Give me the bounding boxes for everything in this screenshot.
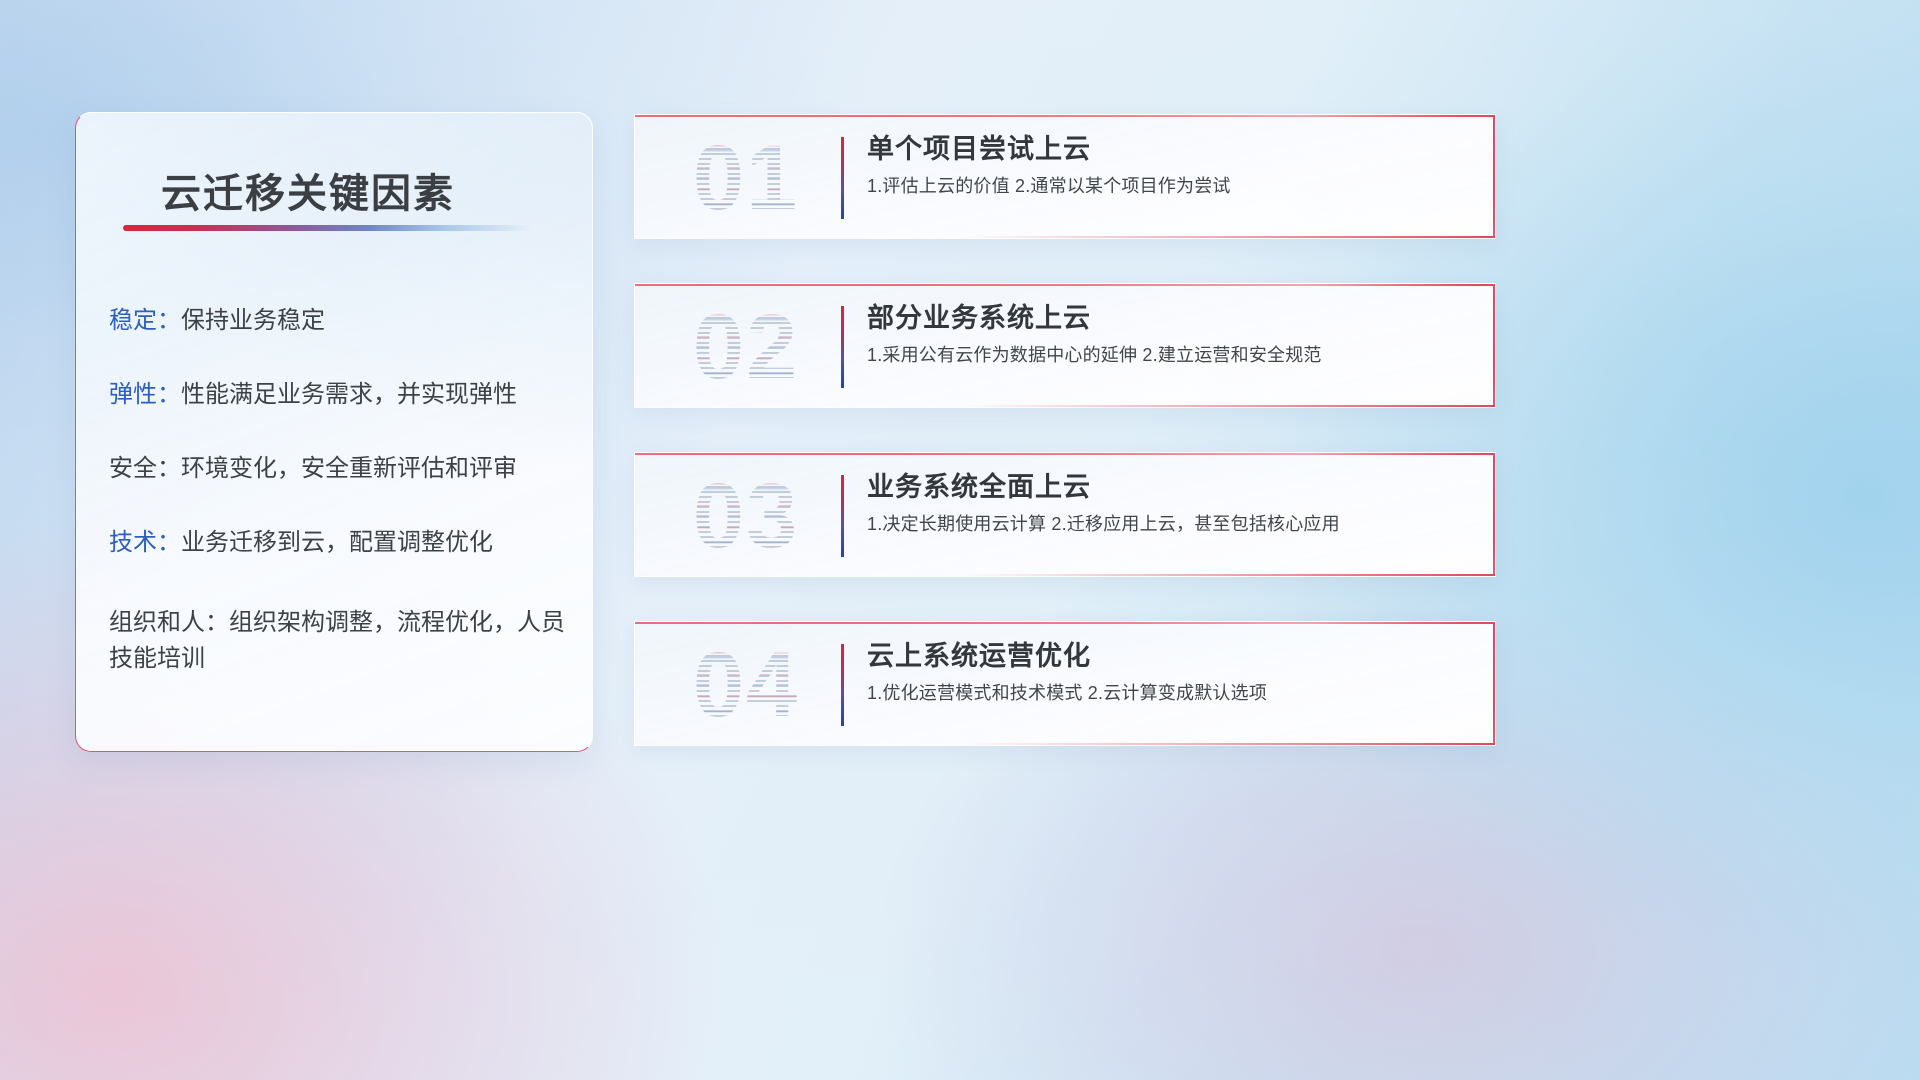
- factor-row: 安全：环境变化，安全重新评估和评审: [109, 457, 579, 481]
- page-title: 云迁移关键因素: [161, 161, 455, 219]
- card-top-accent: [635, 284, 1495, 286]
- card-divider-bar: [841, 644, 844, 726]
- factor-list: 稳定：保持业务稳定 弹性：性能满足业务需求，并实现弹性 安全：环境变化，安全重新…: [109, 309, 579, 728]
- card-top-accent: [635, 453, 1495, 455]
- factor-label: 弹性：: [109, 381, 181, 408]
- card-body: 云上系统运营优化 1.优化运营模式和技术模式 2.云计算变成默认选项: [867, 640, 1471, 706]
- card-bottom-accent: [962, 574, 1495, 576]
- card-body: 部分业务系统上云 1.采用公有云作为数据中心的延伸 2.建立运营和安全规范: [867, 302, 1471, 368]
- card-number-blue-stripes: 04: [661, 630, 831, 740]
- card-bottom-accent: [962, 743, 1495, 745]
- stage-card[interactable]: 04 04 04 云上系统运营优化 1.优化运营模式和技术模式 2.云计算变成默…: [634, 621, 1496, 746]
- card-title: 业务系统全面上云: [867, 471, 1471, 503]
- card-right-accent: [1493, 115, 1495, 238]
- card-divider-bar: [841, 137, 844, 219]
- stage-card-list: 01 01 01 单个项目尝试上云 1.评估上云的价值 2.通常以某个项目作为尝…: [634, 114, 1496, 790]
- stage-card[interactable]: 02 02 02 部分业务系统上云 1.采用公有云作为数据中心的延伸 2.建立运…: [634, 283, 1496, 408]
- card-description: 1.评估上云的价值 2.通常以某个项目作为尝试: [867, 175, 1471, 198]
- factor-row: 弹性：性能满足业务需求，并实现弹性: [109, 383, 579, 407]
- factor-label: 安全：: [109, 455, 181, 482]
- card-bottom-accent: [962, 236, 1495, 238]
- card-bottom-accent: [962, 405, 1495, 407]
- factor-text: 业务迁移到云，配置调整优化: [181, 529, 493, 556]
- factor-row: 组织和人：组织架构调整，流程优化，人员技能培训: [109, 605, 579, 678]
- card-top-accent: [635, 622, 1495, 624]
- card-body: 业务系统全面上云 1.决定长期使用云计算 2.迁移应用上云，甚至包括核心应用: [867, 471, 1471, 537]
- card-description: 1.优化运营模式和技术模式 2.云计算变成默认选项: [867, 682, 1471, 705]
- key-factors-panel: 云迁移关键因素 稳定：保持业务稳定 弹性：性能满足业务需求，并实现弹性 安全：环…: [75, 112, 593, 752]
- card-description: 1.决定长期使用云计算 2.迁移应用上云，甚至包括核心应用: [867, 513, 1471, 536]
- factor-text: 环境变化，安全重新评估和评审: [181, 455, 517, 482]
- title-underline-accent: [123, 225, 533, 231]
- card-right-accent: [1493, 453, 1495, 576]
- card-right-accent: [1493, 622, 1495, 745]
- card-number-blue-stripes: 01: [661, 123, 831, 233]
- card-right-accent: [1493, 284, 1495, 407]
- card-number-blue-stripes: 03: [661, 461, 831, 571]
- card-divider-bar: [841, 475, 844, 557]
- card-title: 单个项目尝试上云: [867, 133, 1471, 165]
- factor-row: 稳定：保持业务稳定: [109, 309, 579, 333]
- factor-label: 稳定：: [109, 307, 181, 334]
- card-divider-bar: [841, 306, 844, 388]
- factor-text: 保持业务稳定: [181, 307, 325, 334]
- factor-text: 性能满足业务需求，并实现弹性: [181, 381, 517, 408]
- slide-stage: 云迁移关键因素 稳定：保持业务稳定 弹性：性能满足业务需求，并实现弹性 安全：环…: [0, 0, 1920, 1080]
- card-body: 单个项目尝试上云 1.评估上云的价值 2.通常以某个项目作为尝试: [867, 133, 1471, 199]
- card-top-accent: [635, 115, 1495, 117]
- factor-label: 组织和人：: [109, 609, 229, 636]
- stage-card[interactable]: 03 03 03 业务系统全面上云 1.决定长期使用云计算 2.迁移应用上云，甚…: [634, 452, 1496, 577]
- card-description: 1.采用公有云作为数据中心的延伸 2.建立运营和安全规范: [867, 344, 1471, 367]
- factor-row: 技术：业务迁移到云，配置调整优化: [109, 531, 579, 555]
- card-title: 云上系统运营优化: [867, 640, 1471, 672]
- card-number-blue-stripes: 02: [661, 292, 831, 402]
- factor-label: 技术：: [109, 529, 181, 556]
- card-title: 部分业务系统上云: [867, 302, 1471, 334]
- stage-card[interactable]: 01 01 01 单个项目尝试上云 1.评估上云的价值 2.通常以某个项目作为尝…: [634, 114, 1496, 239]
